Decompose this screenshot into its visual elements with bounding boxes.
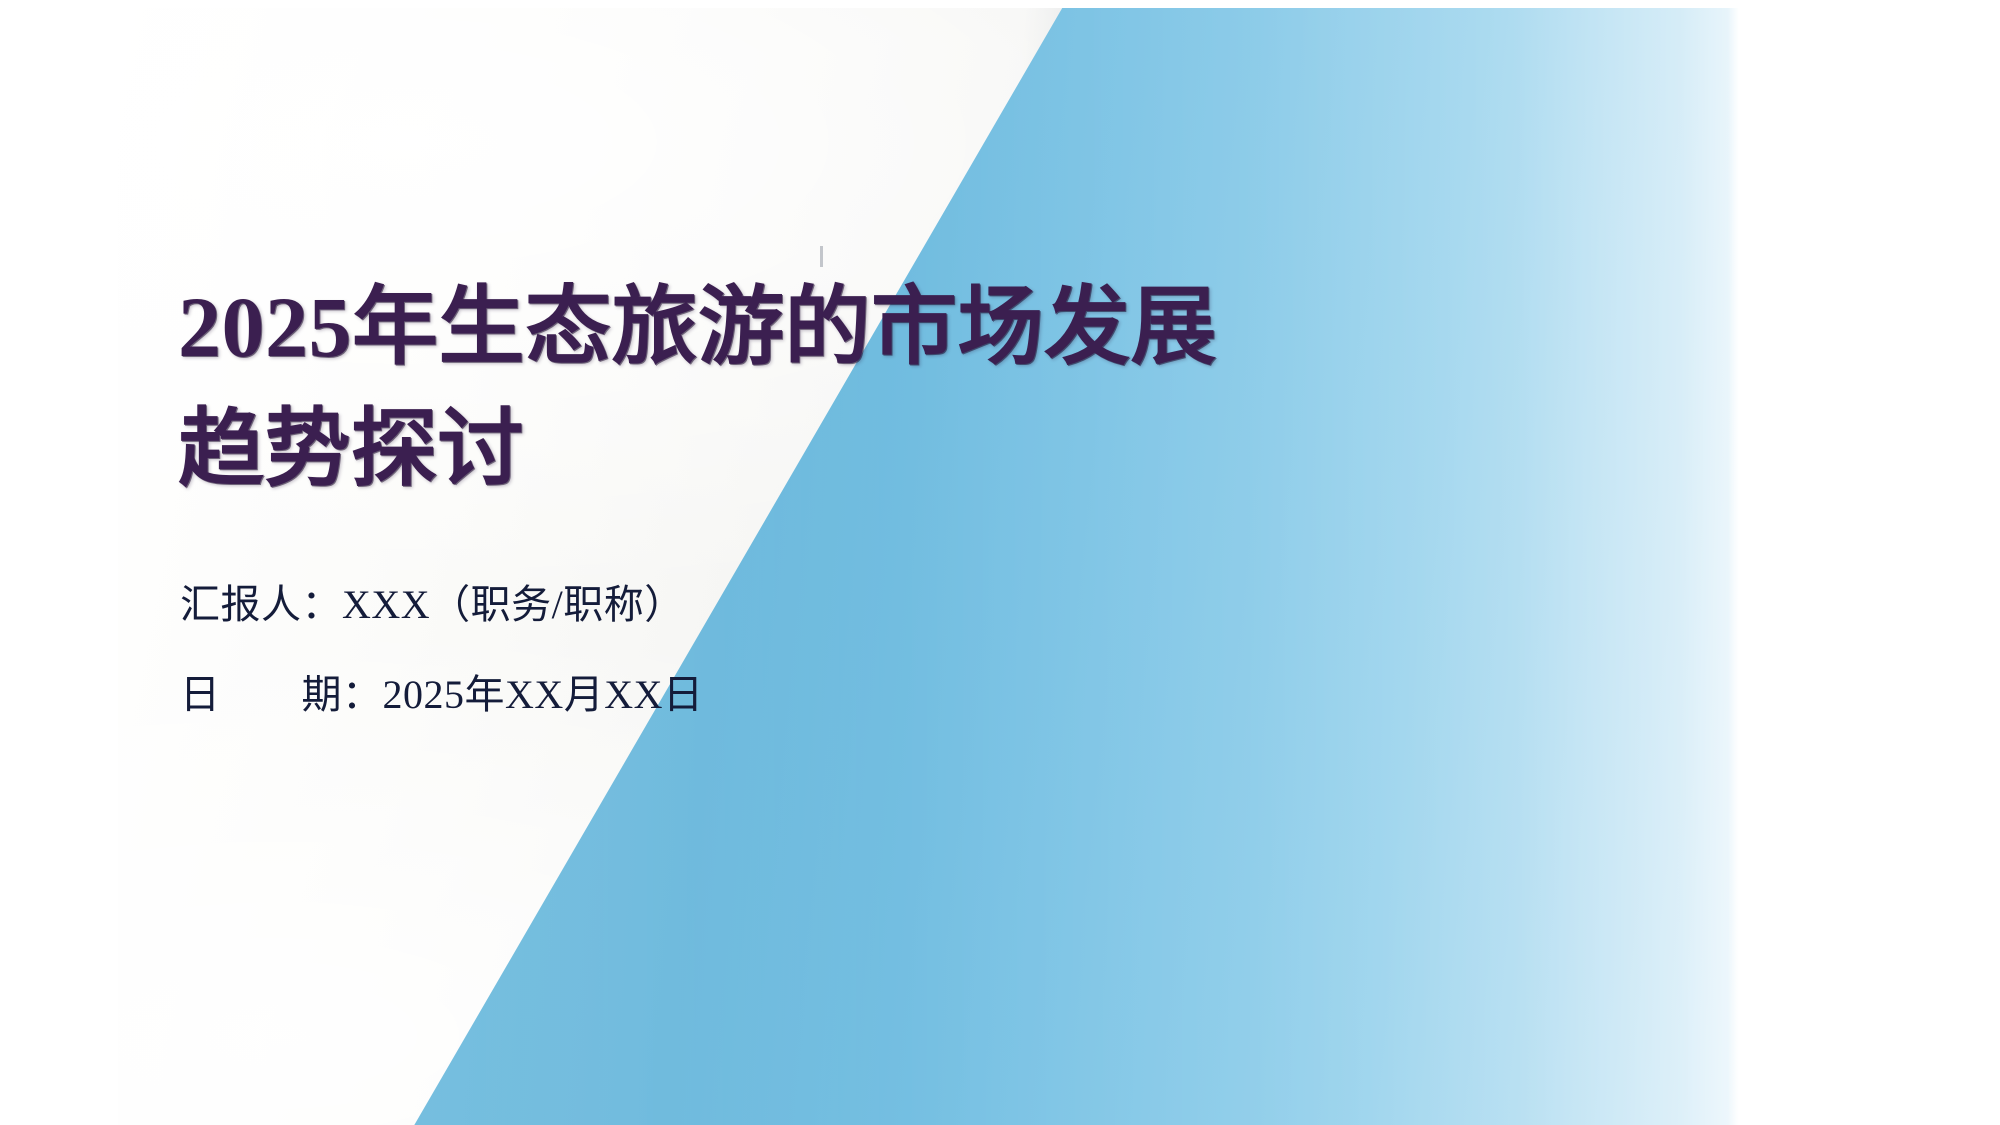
slide-stage: 2025年生态旅游的市场发展趋势探讨 汇报人：XXX（职务/职称） 日 期：20… (0, 0, 2000, 1125)
stray-tick-mark (820, 246, 823, 267)
date-line: 日 期：2025年XX月XX日 (180, 670, 1080, 720)
presenter-line: 汇报人：XXX（职务/职称） (180, 580, 1080, 630)
slide-title: 2025年生态旅游的市场发展趋势探讨 (178, 266, 1288, 510)
presentation-slide: 2025年生态旅游的市场发展趋势探讨 汇报人：XXX（职务/职称） 日 期：20… (118, 8, 1746, 1125)
slide-text-layer: 2025年生态旅游的市场发展趋势探讨 汇报人：XXX（职务/职称） 日 期：20… (118, 8, 1746, 1125)
